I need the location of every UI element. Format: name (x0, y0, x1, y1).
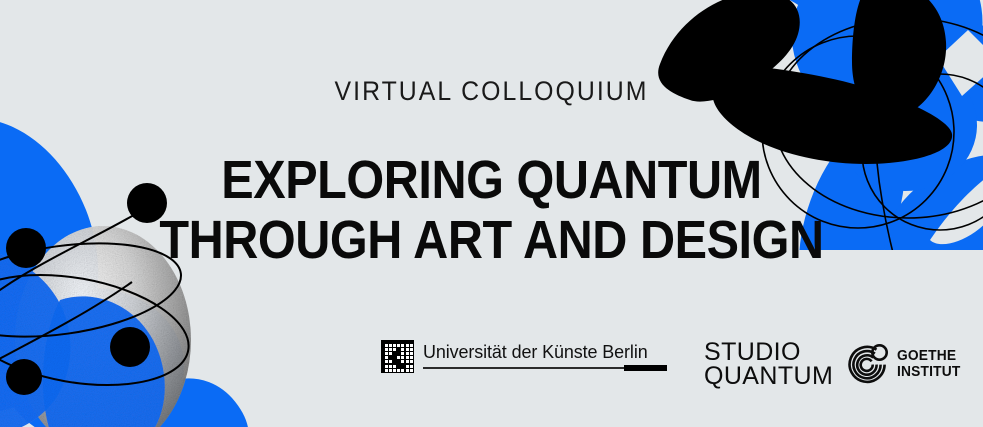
headline-line-2: THROUGH ART AND DESIGN (49, 213, 934, 267)
udk-name: Universität der Künste Berlin (423, 343, 660, 362)
goethe-line-1: GOETHE (897, 348, 961, 364)
goethe-spiral-icon (846, 342, 890, 386)
headline-line-1: EXPLORING QUANTUM (49, 153, 934, 207)
studio-quantum-line-2: QUANTUM (704, 365, 833, 389)
colloquium-banner: VIRTUAL COLLOQUIUM EXPLORING QUANTUM THR… (0, 0, 983, 427)
logo-goethe-institut[interactable]: GOETHE INSTITUT (846, 342, 964, 386)
udk-rule-thick-segment (624, 365, 667, 371)
goethe-line-2: INSTITUT (897, 364, 961, 380)
eyebrow-label: VIRTUAL COLLOQUIUM (39, 78, 943, 105)
logo-studio-quantum[interactable]: STUDIO QUANTUM (704, 341, 833, 389)
udk-rule (423, 367, 667, 369)
logo-udk-berlin[interactable]: Universität der Künste Berlin (381, 340, 667, 373)
udk-dot-matrix-icon (381, 340, 414, 373)
logo-row: Universität der Künste Berlin STUDIO QUA… (0, 334, 983, 394)
